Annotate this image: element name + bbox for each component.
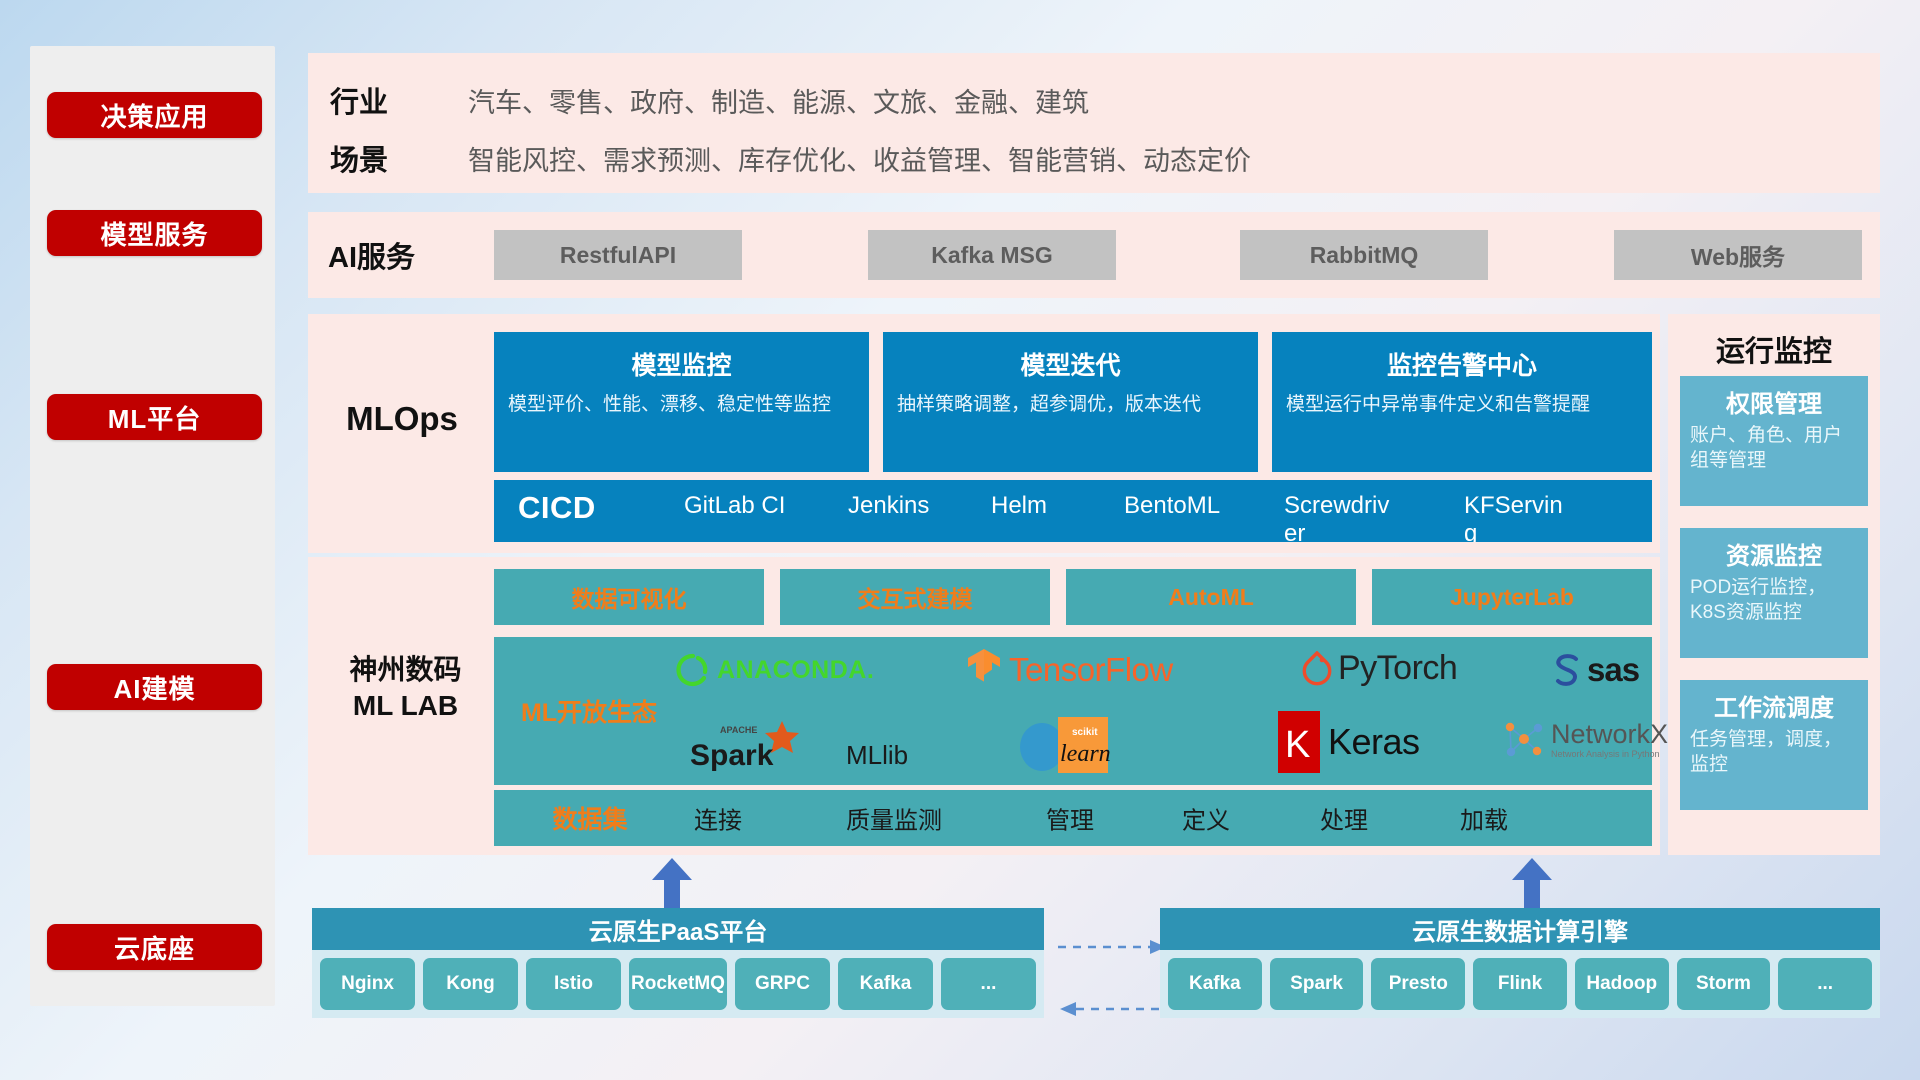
keras-icon: K [1278, 711, 1320, 773]
scikit-learn-icon: scikit learn [1014, 713, 1144, 775]
sas-logo: sas [1550, 651, 1639, 689]
tensorflow-logo: TensorFlow [964, 647, 1173, 693]
card-desc: 模型运行中异常事件定义和告警提醒 [1286, 392, 1638, 417]
paas-chip-kong[interactable]: Kong [423, 958, 518, 1010]
svg-text:Spark: Spark [690, 739, 774, 772]
cicd-title: CICD [518, 490, 596, 526]
svg-text:learn: learn [1060, 741, 1111, 767]
sas-wordmark: sas [1587, 651, 1639, 689]
dataset-band: 数据集 连接 质量监测 管理 定义 处理 加载 [494, 790, 1652, 846]
dataset-label: 数据集 [516, 800, 664, 836]
card-title: 权限管理 [1690, 384, 1858, 419]
keras-wordmark: Keras [1328, 721, 1420, 763]
monitoring-card-workflow[interactable]: 工作流调度 任务管理，调度，监控 [1680, 680, 1868, 810]
engine-chip-storm[interactable]: Storm [1677, 958, 1771, 1010]
spark-icon: APACHE Spark [690, 717, 840, 775]
dataset-item-quality[interactable]: 质量监测 [846, 801, 942, 836]
rail-item-ai-modeling[interactable]: AI建模 [47, 664, 262, 710]
dataset-item-define[interactable]: 定义 [1182, 801, 1230, 836]
ml-open-ecosystem-label: ML开放生态 [514, 693, 664, 729]
rail-label: 云底座 [114, 929, 195, 966]
scenario-label: 场景 [330, 137, 450, 179]
mlops-panel: 模型监控 模型评价、性能、漂移、稳定性等监控 模型迭代 抽样策略调整，超参调优，… [308, 314, 1660, 553]
sas-icon [1550, 652, 1584, 688]
monitoring-card-resources[interactable]: 资源监控 POD运行监控，K8S资源监控 [1680, 528, 1868, 658]
card-title: 工作流调度 [1690, 688, 1858, 723]
architecture-diagram: 决策应用 模型服务 ML平台 AI建模 云底座 行业 汽车、零售、政府、制造、能… [0, 0, 1920, 1080]
mlops-card-model-monitoring[interactable]: 模型监控 模型评价、性能、漂移、稳定性等监控 [494, 332, 869, 472]
ml-lab-brand-line2: ML LAB [318, 688, 493, 724]
anaconda-wordmark: ANACONDA. [717, 656, 874, 685]
cicd-item-bentoml[interactable]: BentoML [1124, 492, 1234, 520]
engine-chip-kafka[interactable]: Kafka [1168, 958, 1262, 1010]
paas-chip-more[interactable]: ... [941, 958, 1036, 1010]
rail-label: AI建模 [113, 669, 195, 706]
cicd-item-gitlab-ci[interactable]: GitLab CI [684, 492, 794, 520]
engine-chip-spark[interactable]: Spark [1270, 958, 1364, 1010]
engine-chip-presto[interactable]: Presto [1371, 958, 1465, 1010]
service-chip-web-service[interactable]: Web服务 [1614, 230, 1862, 280]
engine-chip-flink[interactable]: Flink [1473, 958, 1567, 1010]
decision-apps-panel: 行业 汽车、零售、政府、制造、能源、文旅、金融、建筑 场景 智能风控、需求预测、… [308, 53, 1880, 193]
service-chip-restfulapi[interactable]: RestfulAPI [494, 230, 742, 280]
paas-platform-block: 云原生PaaS平台 Nginx Kong Istio RocketMQ GRPC… [312, 908, 1044, 1018]
spark-mllib-logo: APACHE Spark MLlib [690, 717, 908, 775]
pytorch-wordmark: PyTorch [1338, 649, 1457, 688]
service-chip-kafka-msg[interactable]: Kafka MSG [868, 230, 1116, 280]
right-dashed-arrow [1058, 938, 1168, 961]
card-desc: 账户、角色、用户组等管理 [1690, 424, 1858, 473]
card-title: 监控告警中心 [1286, 346, 1638, 382]
card-title: 模型迭代 [897, 346, 1244, 382]
tool-chip-data-visualization[interactable]: 数据可视化 [494, 569, 764, 625]
paas-up-arrow [652, 858, 692, 912]
networkx-wordmark: NetworkX [1551, 721, 1668, 748]
scikit-learn-logo: scikit learn [1014, 713, 1144, 780]
paas-chip-istio[interactable]: Istio [526, 958, 621, 1010]
cicd-item-kfserving[interactable]: KFServing [1464, 492, 1574, 542]
service-chip-rabbitmq[interactable]: RabbitMQ [1240, 230, 1488, 280]
left-dashed-arrow [1058, 1000, 1168, 1023]
paas-chip-kafka[interactable]: Kafka [838, 958, 933, 1010]
ai-service-panel: AI服务 RestfulAPI Kafka MSG RabbitMQ Web服务 [308, 212, 1880, 298]
dataset-item-load[interactable]: 加载 [1460, 801, 1508, 836]
paas-chip-nginx[interactable]: Nginx [320, 958, 415, 1010]
svg-text:scikit: scikit [1072, 727, 1098, 738]
mlops-card-model-iteration[interactable]: 模型迭代 抽样策略调整，超参调优，版本迭代 [883, 332, 1258, 472]
anaconda-logo: ANACONDA. [676, 653, 874, 687]
ml-lab-brand-line1: 神州数码 [318, 652, 493, 688]
industry-label: 行业 [330, 79, 450, 121]
paas-chip-row: Nginx Kong Istio RocketMQ GRPC Kafka ... [312, 950, 1044, 1018]
networkx-icon [1500, 717, 1546, 763]
dataset-item-process[interactable]: 处理 [1320, 801, 1368, 836]
cicd-item-helm[interactable]: Helm [991, 492, 1101, 520]
networkx-logo: NetworkX Network Analysis in Python [1500, 717, 1668, 763]
left-rail: 决策应用 模型服务 ML平台 AI建模 云底座 [30, 46, 275, 1006]
ai-service-label: AI服务 [328, 234, 415, 276]
tool-chip-interactive-modeling[interactable]: 交互式建模 [780, 569, 1050, 625]
svg-text:K: K [1285, 724, 1310, 766]
card-desc: 任务管理，调度，监控 [1690, 728, 1858, 777]
mllib-wordmark: MLlib [846, 740, 908, 771]
networkx-tagline: Network Analysis in Python [1551, 750, 1668, 759]
rail-label: 决策应用 [100, 97, 208, 134]
ml-lab-panel: 数据可视化 交互式建模 AutoML JupyterLab ML开放生态 ANA… [308, 557, 1660, 855]
card-desc: 模型评价、性能、漂移、稳定性等监控 [508, 392, 855, 417]
industry-value: 汽车、零售、政府、制造、能源、文旅、金融、建筑 [468, 81, 1089, 120]
engine-chip-hadoop[interactable]: Hadoop [1575, 958, 1669, 1010]
cicd-item-screwdriver[interactable]: Screwdriver [1284, 492, 1394, 542]
tool-chip-automl[interactable]: AutoML [1066, 569, 1356, 625]
runtime-monitoring-panel: 运行监控 权限管理 账户、角色、用户组等管理 资源监控 POD运行监控，K8S资… [1668, 314, 1880, 855]
pytorch-icon [1302, 651, 1332, 687]
engine-up-arrow [1512, 858, 1552, 912]
ml-lab-brand: 神州数码 ML LAB [318, 652, 493, 725]
cicd-item-jenkins[interactable]: Jenkins [848, 492, 958, 520]
scenario-value: 智能风控、需求预测、库存优化、收益管理、智能营销、动态定价 [468, 139, 1251, 178]
dataset-item-manage[interactable]: 管理 [1046, 801, 1094, 836]
mlops-label: MLOps [322, 400, 482, 438]
tensorflow-wordmark: TensorFlow [1009, 651, 1173, 689]
monitoring-card-permissions[interactable]: 权限管理 账户、角色、用户组等管理 [1680, 376, 1868, 506]
rail-item-cloud-base[interactable]: 云底座 [47, 924, 262, 970]
svg-text:APACHE: APACHE [720, 725, 757, 735]
mlops-card-alert-center[interactable]: 监控告警中心 模型运行中异常事件定义和告警提醒 [1272, 332, 1652, 472]
keras-logo: K Keras [1278, 711, 1420, 773]
cicd-bar: CICD GitLab CI Jenkins Helm BentoML Scre… [494, 480, 1652, 542]
tensorflow-icon [964, 647, 1004, 693]
runtime-monitoring-header: 运行监控 [1668, 328, 1880, 370]
rail-item-ml-platform[interactable]: ML平台 [47, 394, 262, 440]
paas-chip-rocketmq[interactable]: RocketMQ [629, 958, 727, 1010]
card-title: 资源监控 [1690, 536, 1858, 571]
pytorch-logo: PyTorch [1302, 649, 1457, 688]
engine-chip-more[interactable]: ... [1778, 958, 1872, 1010]
data-compute-engine-title: 云原生数据计算引擎 [1160, 908, 1880, 950]
rail-item-model-service[interactable]: 模型服务 [47, 210, 262, 256]
card-title: 模型监控 [508, 346, 855, 382]
anaconda-icon [676, 653, 710, 687]
engine-chip-row: Kafka Spark Presto Flink Hadoop Storm ..… [1160, 950, 1880, 1018]
dataset-item-connect[interactable]: 连接 [694, 801, 742, 836]
data-compute-engine-block: 云原生数据计算引擎 Kafka Spark Presto Flink Hadoo… [1160, 908, 1880, 1018]
rail-label: 模型服务 [100, 215, 208, 252]
rail-item-decision-apps[interactable]: 决策应用 [47, 92, 262, 138]
card-desc: POD运行监控，K8S资源监控 [1690, 576, 1858, 625]
card-desc: 抽样策略调整，超参调优，版本迭代 [897, 392, 1244, 417]
paas-chip-grpc[interactable]: GRPC [735, 958, 830, 1010]
ml-open-ecosystem-band: ML开放生态 ANACONDA. TensorFlow [494, 637, 1652, 785]
tool-chip-jupyterlab[interactable]: JupyterLab [1372, 569, 1652, 625]
rail-label: ML平台 [108, 399, 202, 436]
paas-platform-title: 云原生PaaS平台 [312, 908, 1044, 950]
